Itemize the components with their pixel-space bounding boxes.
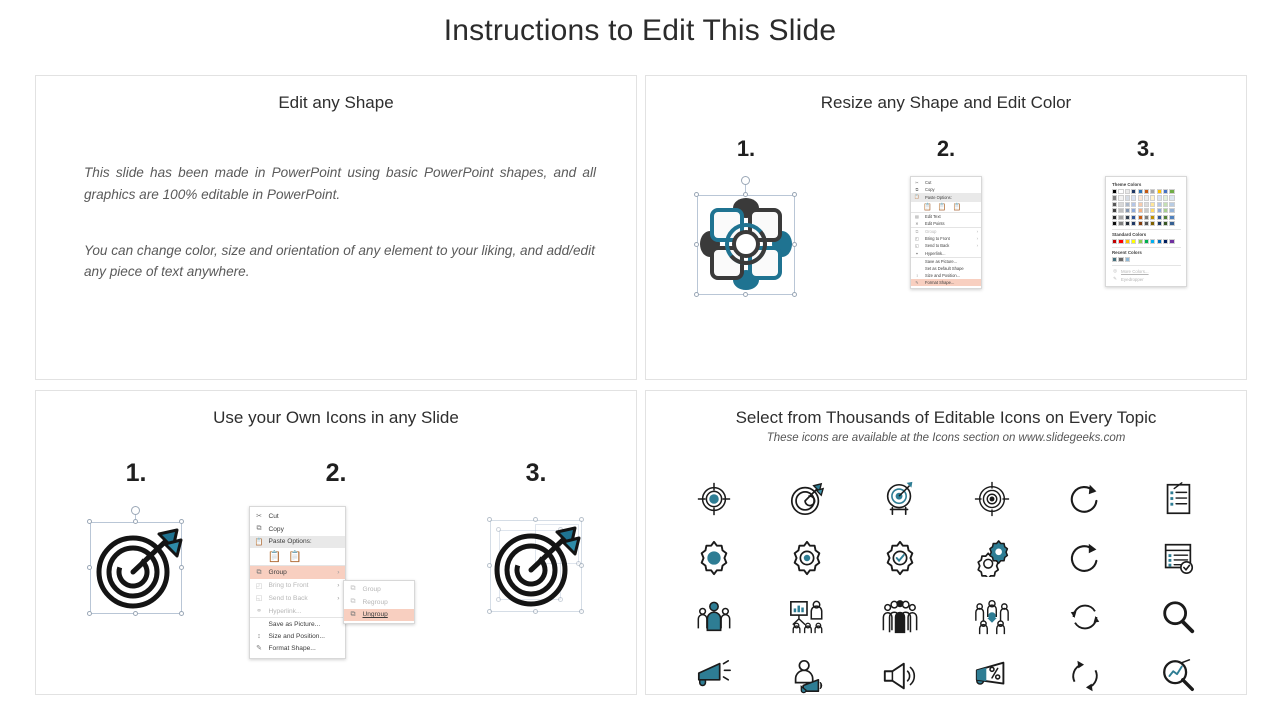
presentation-team-icon[interactable]: [787, 597, 827, 637]
own-icons-steps: 1.: [36, 459, 636, 689]
theme-swatch-1[interactable]: [1118, 189, 1123, 194]
theme-shade-0-5[interactable]: [1144, 195, 1149, 200]
hyperlink-icon: ⚭: [914, 251, 920, 256]
panel-title-resize-shape: Resize any Shape and Edit Color: [646, 93, 1246, 113]
theme-shade-0-7[interactable]: [1157, 195, 1162, 200]
icon-library-grid: [668, 469, 1224, 705]
theme-shade-2-5[interactable]: [1144, 208, 1149, 213]
theme-shade-4-8[interactable]: [1163, 221, 1168, 226]
theme-shade-3-0[interactable]: [1112, 215, 1117, 220]
color-picker-art: Theme Colors Standard Colors Recent Colo…: [1105, 176, 1187, 326]
megaphone-icon[interactable]: [694, 656, 734, 696]
ctx-item-group[interactable]: ⧉Group›: [911, 228, 981, 235]
bring-front-icon: ◰: [914, 236, 920, 241]
ctx-item-paste-options[interactable]: 📋Paste Options:: [911, 193, 981, 201]
edit-shape-paragraph-1: This slide has been made in PowerPoint u…: [84, 162, 596, 206]
theme-colors-label: Theme Colors: [1112, 182, 1181, 187]
gear-solid-icon[interactable]: [694, 538, 734, 578]
step-number: 2.: [326, 459, 347, 488]
format-shape-icon: ✎: [914, 280, 920, 285]
context-menu-large-art: ✂Cut ⧉Copy 📋Paste Options: 📋 📋 ⧉Group› ◰…: [246, 506, 426, 656]
ctx-label: Paste Options:: [925, 195, 952, 200]
format-shape-icon: ✎: [255, 644, 264, 652]
gear-check-icon[interactable]: [880, 538, 920, 578]
theme-shade-3-3[interactable]: [1131, 215, 1136, 220]
standard-swatch-2[interactable]: [1125, 239, 1130, 244]
group-icon: ⧉: [914, 229, 920, 234]
theme-shade-2-4[interactable]: [1138, 208, 1143, 213]
standard-colors-row: [1112, 239, 1181, 244]
ctx-item-format-shape[interactable]: ✎Format Shape...: [250, 642, 345, 655]
own-icons-step-1: 1.: [44, 459, 229, 656]
recent-swatch-2[interactable]: [1125, 257, 1130, 262]
standard-swatch-3[interactable]: [1131, 239, 1136, 244]
theme-shade-4-3[interactable]: [1131, 221, 1136, 226]
ctx-item-copy[interactable]: ⧉Copy: [250, 523, 345, 536]
ctx-item-edit-points[interactable]: ✕Edit Points: [911, 220, 981, 227]
dartboard-arrow-icon: [481, 506, 591, 624]
ctx-label: Size and Position...: [269, 633, 325, 640]
theme-swatch-7[interactable]: [1157, 189, 1162, 194]
step-number: 1.: [126, 459, 147, 488]
theme-shade-3-5[interactable]: [1144, 215, 1149, 220]
theme-shade-3-8[interactable]: [1163, 215, 1168, 220]
four-quadrant-shape-icon: [690, 176, 802, 302]
standard-swatch-7[interactable]: [1157, 239, 1162, 244]
ctx-item-cut[interactable]: ✂Cut: [911, 179, 981, 186]
circular-arrows-icon[interactable]: [1065, 656, 1105, 696]
ctx-item-copy[interactable]: ⧉Copy: [911, 186, 981, 193]
grouped-target-art: [81, 506, 191, 656]
ctx-item-bring-to-front[interactable]: ◰Bring to Front›: [911, 235, 981, 242]
reload-arrow-icon[interactable]: [1065, 538, 1105, 578]
theme-shade-4-6[interactable]: [1150, 221, 1155, 226]
theme-swatch-9[interactable]: [1169, 189, 1174, 194]
edit-points-icon: ✕: [914, 221, 920, 226]
ctx-item-hyperlink[interactable]: ⚭Hyperlink...: [250, 605, 345, 618]
ctx-label: Send to Back: [925, 243, 949, 248]
ctx-label: Group: [363, 586, 381, 593]
theme-shade-4-5[interactable]: [1144, 221, 1149, 226]
color-picker-panel[interactable]: Theme Colors Standard Colors Recent Colo…: [1105, 176, 1187, 287]
regroup-icon: ⧉: [349, 598, 358, 606]
panel-title-editable-icons: Select from Thousands of Editable Icons …: [646, 408, 1246, 428]
icon-context-menu[interactable]: ✂Cut ⧉Copy 📋Paste Options: 📋 📋 ⧉Group› ◰…: [249, 506, 346, 659]
chevron-right-icon: ›: [337, 582, 339, 589]
ungroup-icon: ⧉: [349, 611, 358, 619]
panel-grid: Edit any Shape This slide has been made …: [35, 75, 1247, 695]
theme-shade-row-2: [1112, 208, 1181, 213]
edit-text-icon: ▤: [914, 214, 920, 219]
megaphone-percent-icon[interactable]: [972, 656, 1012, 696]
resize-step-2: 2. ✂Cut ⧉Copy 📋Paste Options: 📋 📋 📋: [856, 136, 1036, 326]
selected-shape-art: [690, 176, 802, 326]
chevron-right-icon: ›: [337, 595, 339, 602]
ctx-item-paste-options[interactable]: 📋Paste Options:: [250, 536, 345, 549]
ctx-label: Regroup: [363, 599, 388, 606]
panel-resize-shape: Resize any Shape and Edit Color 1.: [645, 75, 1247, 380]
page-title: Instructions to Edit This Slide: [0, 14, 1280, 48]
magnifier-icon[interactable]: [1158, 597, 1198, 637]
ctx-label: Copy: [269, 526, 284, 533]
own-icons-step-3: 3.: [444, 459, 629, 656]
ctx-label: Edit Text: [925, 214, 941, 219]
theme-shade-2-1[interactable]: [1118, 208, 1123, 213]
theme-shade-2-6[interactable]: [1150, 208, 1155, 213]
theme-swatch-4[interactable]: [1138, 189, 1143, 194]
ctx-label: Format Shape...: [269, 645, 316, 652]
standard-swatch-8[interactable]: [1163, 239, 1168, 244]
theme-shade-4-4[interactable]: [1138, 221, 1143, 226]
panel-edit-shape: Edit any Shape This slide has been made …: [35, 75, 637, 380]
ctx-item-edit-text[interactable]: ▤Edit Text: [911, 213, 981, 220]
ctx-label: Edit Points: [925, 221, 945, 226]
shape-selection[interactable]: [690, 176, 802, 302]
standard-swatch-1[interactable]: [1118, 239, 1123, 244]
edit-shape-paragraph-2: You can change color, size and orientati…: [84, 240, 596, 284]
ctx-label: Copy: [925, 187, 935, 192]
shape-context-menu[interactable]: ✂Cut ⧉Copy 📋Paste Options: 📋 📋 📋 ▤Edit T…: [910, 176, 982, 289]
ctx-item-bring-to-front[interactable]: ◰Bring to Front›: [250, 579, 345, 592]
theme-colors-base-row: [1112, 189, 1181, 194]
theme-shade-3-2[interactable]: [1125, 215, 1130, 220]
paste-keep-formatting-icon[interactable]: 📋: [923, 203, 932, 211]
paste-options-row: 📋 📋: [250, 548, 345, 565]
ctx-label: Save as Picture...: [925, 259, 957, 264]
ctx-item-send-to-back[interactable]: ◱Send to Back›: [250, 592, 345, 605]
ctx-item-format-shape[interactable]: ✎Format Shape...: [911, 279, 981, 286]
size-position-icon: ↕: [255, 633, 264, 640]
theme-shade-3-6[interactable]: [1150, 215, 1155, 220]
submenu-item-ungroup[interactable]: ⧉Ungroup: [344, 609, 414, 622]
ctx-item-size-and-position[interactable]: ↕Size and Position...: [911, 272, 981, 279]
theme-shade-0-1[interactable]: [1118, 195, 1123, 200]
palette-icon: ◎: [1112, 268, 1118, 274]
theme-shade-1-9[interactable]: [1169, 202, 1174, 207]
theme-swatch-2[interactable]: [1125, 189, 1130, 194]
recent-colors-row: [1112, 257, 1181, 262]
standard-swatch-6[interactable]: [1150, 239, 1155, 244]
submenu-item-regroup[interactable]: ⧉Regroup: [344, 596, 414, 609]
recent-colors-label: Recent Colors: [1112, 250, 1181, 255]
eyedropper-label: Eyedropper: [1121, 277, 1144, 282]
group-submenu[interactable]: ⧉Group ⧉Regroup ⧉Ungroup: [343, 580, 415, 624]
theme-shade-4-2[interactable]: [1125, 221, 1130, 226]
team-crowd-icon[interactable]: [880, 597, 920, 637]
edit-shape-body: This slide has been made in PowerPoint u…: [84, 162, 596, 283]
ungrouped-icon-selection[interactable]: [481, 506, 591, 624]
standard-swatch-0[interactable]: [1112, 239, 1117, 244]
send-back-icon: ◱: [255, 594, 264, 602]
theme-shade-3-7[interactable]: [1157, 215, 1162, 220]
step-number: 3.: [1137, 136, 1155, 162]
theme-shade-2-0[interactable]: [1112, 208, 1117, 213]
paste-picture-icon[interactable]: 📋: [938, 203, 947, 211]
team-meeting-icon[interactable]: [972, 597, 1012, 637]
standard-swatch-5[interactable]: [1144, 239, 1149, 244]
ctx-label: Hyperlink...: [925, 251, 945, 256]
theme-shade-2-3[interactable]: [1131, 208, 1136, 213]
ctx-item-save-as-picture[interactable]: Save as Picture...: [250, 618, 345, 630]
resize-step-3: 3. Theme Colors Standard Colors Recent C…: [1056, 136, 1236, 326]
theme-swatch-0[interactable]: [1112, 189, 1117, 194]
standard-colors-label: Standard Colors: [1112, 232, 1181, 237]
chevron-right-icon: ›: [977, 229, 978, 234]
theme-swatch-6[interactable]: [1150, 189, 1155, 194]
panel-title-own-icons: Use your Own Icons in any Slide: [36, 408, 636, 428]
ctx-label: Group: [269, 569, 287, 576]
paste-picture-icon[interactable]: 📋: [288, 550, 302, 563]
copy-icon: ⧉: [914, 187, 920, 192]
radar-target-icon[interactable]: [972, 479, 1012, 519]
gear-outline-icon[interactable]: [787, 538, 827, 578]
theme-shade-0-3[interactable]: [1131, 195, 1136, 200]
panel-own-icons: Use your Own Icons in any Slide 1.: [35, 390, 637, 695]
checklist-approved-icon[interactable]: [1158, 538, 1198, 578]
panel-title-edit-shape: Edit any Shape: [36, 93, 636, 113]
theme-shade-1-1[interactable]: [1118, 202, 1123, 207]
theme-colors-shades: [1112, 195, 1181, 226]
loudspeaker-icon[interactable]: [880, 656, 920, 696]
dartboard-arrow-icon[interactable]: [787, 479, 827, 519]
eyedropper-button[interactable]: ✎Eyedropper: [1112, 276, 1181, 282]
theme-shade-row-1: [1112, 202, 1181, 207]
target-stand-icon[interactable]: [880, 479, 920, 519]
group-icon: ⧉: [255, 569, 264, 577]
paste-icon: 📋: [914, 194, 920, 200]
panel-subtitle-editable-icons: These icons are available at the Icons s…: [646, 432, 1246, 444]
theme-shade-1-0[interactable]: [1112, 202, 1117, 207]
theme-shade-4-9[interactable]: [1169, 221, 1174, 226]
theme-shade-1-5[interactable]: [1144, 202, 1149, 207]
context-menu-small-art: ✂Cut ⧉Copy 📋Paste Options: 📋 📋 📋 ▤Edit T…: [910, 176, 982, 326]
theme-shade-0-2[interactable]: [1125, 195, 1130, 200]
ctx-label: Paste Options:: [269, 538, 312, 545]
dartboard-arrow-icon: [81, 506, 191, 624]
group-icon: ⧉: [349, 585, 358, 593]
ctx-item-cut[interactable]: ✂Cut: [250, 510, 345, 523]
ctx-label: Set as Default Shape: [925, 266, 964, 271]
own-icons-step-2: 2. ✂Cut ⧉Copy 📋Paste Options: 📋 📋: [244, 459, 429, 656]
standard-swatch-4[interactable]: [1138, 239, 1143, 244]
ctx-label: Bring to Front: [269, 582, 309, 589]
copy-icon: ⧉: [255, 525, 264, 533]
sync-arrows-icon[interactable]: [1065, 597, 1105, 637]
scissors-icon: ✂: [914, 180, 920, 185]
ctx-label: Hyperlink...: [269, 608, 302, 615]
hyperlink-icon: ⚭: [255, 607, 264, 615]
bring-front-icon: ◰: [255, 582, 264, 590]
theme-shade-0-9[interactable]: [1169, 195, 1174, 200]
magnifier-chart-icon[interactable]: [1158, 656, 1198, 696]
theme-shade-4-0[interactable]: [1112, 221, 1117, 226]
chevron-right-icon: ›: [337, 569, 339, 576]
ctx-item-send-to-back[interactable]: ◱Send to Back›: [911, 242, 981, 249]
theme-shade-0-6[interactable]: [1150, 195, 1155, 200]
theme-shade-row-3: [1112, 215, 1181, 220]
slide-root: Instructions to Edit This Slide Edit any…: [0, 0, 1280, 720]
theme-shade-1-7[interactable]: [1157, 202, 1162, 207]
theme-shade-2-7[interactable]: [1157, 208, 1162, 213]
send-back-icon: ◱: [914, 243, 920, 248]
scissors-icon: ✂: [255, 512, 264, 520]
theme-shade-1-6[interactable]: [1150, 202, 1155, 207]
double-gear-icon[interactable]: [972, 538, 1012, 578]
theme-shade-1-4[interactable]: [1138, 202, 1143, 207]
theme-shade-row-0: [1112, 195, 1181, 200]
paste-options-row: 📋 📋 📋: [911, 202, 981, 212]
paste-text-icon[interactable]: 📋: [952, 203, 961, 211]
theme-shade-1-2[interactable]: [1125, 202, 1130, 207]
ctx-label: Size and Position...: [925, 273, 960, 278]
theme-swatch-3[interactable]: [1131, 189, 1136, 194]
ctx-label: Ungroup: [363, 611, 388, 618]
ctx-item-hyperlink[interactable]: ⚭Hyperlink...: [911, 250, 981, 257]
theme-shade-1-8[interactable]: [1163, 202, 1168, 207]
theme-shade-2-9[interactable]: [1169, 208, 1174, 213]
step-number: 3.: [526, 459, 547, 488]
grouped-icon-selection[interactable]: [81, 506, 191, 624]
ctx-item-group[interactable]: ⧉Group›: [250, 566, 345, 579]
refresh-clockwise-icon[interactable]: [1065, 479, 1105, 519]
panel-editable-icons: Select from Thousands of Editable Icons …: [645, 390, 1247, 695]
more-colors-button[interactable]: ◎More Colors...: [1112, 268, 1181, 274]
paste-keep-formatting-icon[interactable]: 📋: [268, 550, 282, 563]
submenu-item-group[interactable]: ⧉Group: [344, 583, 414, 596]
theme-swatch-5[interactable]: [1144, 189, 1149, 194]
ctx-item-size-and-position[interactable]: ↕Size and Position...: [250, 630, 345, 642]
resize-step-1: 1.: [656, 136, 836, 326]
recent-swatch-0[interactable]: [1112, 257, 1117, 262]
ctx-label: Save as Picture...: [269, 621, 321, 628]
ctx-item-save-as-picture[interactable]: Save as Picture...: [911, 258, 981, 265]
theme-swatch-8[interactable]: [1163, 189, 1168, 194]
theme-shade-3-9[interactable]: [1169, 215, 1174, 220]
theme-shade-4-1[interactable]: [1118, 221, 1123, 226]
recent-swatch-1[interactable]: [1118, 257, 1123, 262]
ctx-label: Send to Back: [269, 595, 308, 602]
paste-icon: 📋: [255, 538, 264, 546]
step-number: 1.: [737, 136, 755, 162]
step-number: 2.: [937, 136, 955, 162]
theme-shade-2-2[interactable]: [1125, 208, 1130, 213]
ctx-label: Group: [925, 229, 936, 234]
theme-shade-0-8[interactable]: [1163, 195, 1168, 200]
theme-shade-2-8[interactable]: [1163, 208, 1168, 213]
resize-steps: 1.: [646, 136, 1246, 371]
person-megaphone-icon[interactable]: [787, 656, 827, 696]
ctx-label: Cut: [269, 513, 279, 520]
chevron-right-icon: ›: [977, 236, 978, 241]
more-colors-label: More Colors...: [1121, 269, 1149, 274]
theme-shade-0-4[interactable]: [1138, 195, 1143, 200]
theme-shade-3-1[interactable]: [1118, 215, 1123, 220]
people-group-icon[interactable]: [694, 597, 734, 637]
eyedropper-icon: ✎: [1112, 276, 1118, 282]
chevron-right-icon: ›: [977, 243, 978, 248]
theme-shade-3-4[interactable]: [1138, 215, 1143, 220]
ctx-label: Cut: [925, 180, 931, 185]
standard-swatch-9[interactable]: [1169, 239, 1174, 244]
theme-shade-4-7[interactable]: [1157, 221, 1162, 226]
theme-shade-0-0[interactable]: [1112, 195, 1117, 200]
theme-shade-row-4: [1112, 221, 1181, 226]
ctx-item-set-default-shape[interactable]: Set as Default Shape: [911, 265, 981, 272]
ctx-label: Bring to Front: [925, 236, 950, 241]
ctx-label: Format Shape...: [925, 280, 954, 285]
checklist-document-icon[interactable]: [1158, 479, 1198, 519]
theme-shade-1-3[interactable]: [1131, 202, 1136, 207]
ungrouped-target-art: [481, 506, 591, 656]
size-position-icon: ↕: [914, 273, 920, 278]
crosshair-target-icon[interactable]: [694, 479, 734, 519]
